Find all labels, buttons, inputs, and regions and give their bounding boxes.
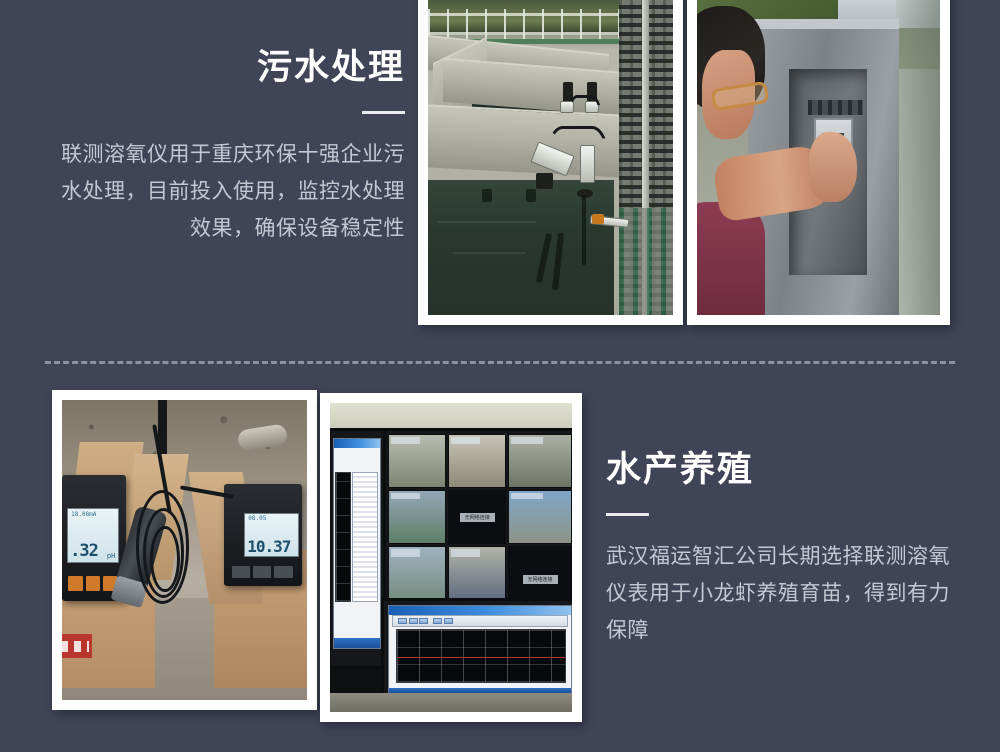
- cable-coil: [150, 526, 179, 592]
- bottom-monitor-trend: [381, 598, 572, 703]
- wall-shadow: [526, 189, 536, 202]
- section-aquaculture-rule: [606, 513, 649, 516]
- field-meters-photo: 18.08mA .32 pH 08.05 10.37: [62, 400, 307, 700]
- camera-feed: [448, 434, 506, 488]
- ph-meter-lcd: 18.08mA .32 pH: [67, 508, 119, 563]
- toolbar-icon[interactable]: [444, 618, 453, 624]
- ph-meter-sub-reading: 18.08mA: [71, 511, 96, 518]
- trend-threshold-line: [397, 657, 565, 658]
- camera-offline-tile: 无网络连接: [448, 490, 506, 544]
- sensor-cable: [565, 95, 604, 133]
- left-taskbar: [334, 638, 380, 648]
- toolbar-icon[interactable]: [409, 618, 418, 624]
- keypad-key: [86, 576, 101, 591]
- camera-timestamp: [391, 437, 420, 443]
- wastewater-treatment-tanks-photo: [428, 0, 673, 315]
- keypad-key: [274, 566, 292, 578]
- monitoring-room-photo: 无网络连接 HIKVISION 无网络连接 HIKVISION: [330, 403, 572, 712]
- desk-surface: [330, 693, 572, 712]
- camera-timestamp: [391, 493, 420, 499]
- camera-feed: [508, 490, 572, 544]
- left-trend-graph: [335, 472, 351, 602]
- water-ripple: [438, 221, 536, 223]
- box-red-label: [62, 634, 92, 658]
- toolbar-icon[interactable]: [398, 618, 407, 624]
- main-pool-water: [428, 180, 614, 315]
- left-monitor: [330, 428, 386, 669]
- trend-taskbar: [389, 688, 572, 692]
- keypad-key: [232, 566, 250, 578]
- technician-installing-controller-photo: [697, 0, 940, 315]
- camera-offline-label: 无网络连接: [460, 513, 495, 522]
- keypad-key: [253, 566, 271, 578]
- trend-chart-grid: [396, 629, 566, 683]
- trend-app-window: [388, 605, 572, 694]
- trend-window-titlebar: [389, 606, 572, 615]
- section-wastewater-body: 联测溶氧仪用于重庆环保十强企业污水处理，目前投入使用，监控水处理效果，确保设备稳…: [45, 136, 405, 247]
- section-wastewater-rule: [362, 111, 405, 114]
- wall-shadow: [482, 189, 492, 202]
- camera-timestamp: [511, 493, 543, 499]
- left-app-window: [333, 438, 381, 650]
- camera-timestamp: [511, 437, 543, 443]
- camera-timestamp: [451, 549, 480, 557]
- photo-frame-wastewater-tanks: [418, 0, 683, 325]
- background-wall-panel: [896, 0, 940, 315]
- do-meter-sub-reading: 08.05: [248, 515, 266, 522]
- sensor-stem: [582, 195, 586, 264]
- section-wastewater-title: 污水处理: [45, 46, 405, 90]
- din-rail: [808, 100, 862, 114]
- dissolved-oxygen-meter-device: 08.05 10.37: [224, 484, 302, 586]
- ph-meter-value: .32: [70, 541, 98, 561]
- photo-frame-field-meters: 18.08mA .32 pH 08.05 10.37: [52, 390, 317, 710]
- camera-timestamp: [451, 437, 480, 443]
- do-meter-keypad: [232, 566, 293, 578]
- main-monitor-cctv: 无网络连接 HIKVISION 无网络连接 HIKVISION: [383, 428, 572, 620]
- section-aquaculture-title: 水产养殖: [606, 448, 956, 492]
- section-wastewater-text: 污水处理 联测溶氧仪用于重庆环保十强企业污水处理，目前投入使用，监控水处理效果，…: [45, 46, 405, 247]
- ph-meter-keypad: [68, 576, 118, 591]
- photo-frame-monitoring-room: 无网络连接 HIKVISION 无网络连接 HIKVISION: [320, 393, 582, 722]
- ph-meter-unit: pH: [107, 552, 115, 560]
- toolbar-icon[interactable]: [433, 618, 442, 624]
- left-window-titlebar: [334, 439, 380, 448]
- camera-feed: [388, 490, 446, 544]
- water-ripple: [453, 252, 527, 254]
- technician-hand: [809, 132, 858, 201]
- keypad-key: [68, 576, 83, 591]
- toolbar-icon[interactable]: [419, 618, 428, 624]
- section-aquaculture-text: 水产养殖 武汉福运智汇公司长期选择联测溶氧仪表用于小龙虾养殖育苗，得到有力保障: [606, 448, 956, 649]
- cable-connector: [592, 214, 604, 223]
- camera-offline-label: 无网络连接: [523, 575, 558, 584]
- camera-timestamp: [391, 549, 420, 557]
- camera-feed: [388, 434, 446, 488]
- do-meter-lcd: 08.05 10.37: [244, 513, 299, 558]
- promo-page: 污水处理 联测溶氧仪用于重庆环保十强企业污水处理，目前投入使用，监控水处理效果，…: [0, 0, 1000, 752]
- do-meter-value: 10.37: [247, 537, 290, 556]
- trend-toolbar: [392, 615, 567, 626]
- photo-frame-technician: [687, 0, 950, 325]
- camera-feed: [508, 434, 572, 488]
- section-divider: [45, 361, 955, 364]
- sensor-body: [536, 173, 553, 189]
- section-aquaculture-body: 武汉福运智汇公司长期选择联测溶氧仪表用于小龙虾养殖育苗，得到有力保障: [606, 538, 956, 649]
- left-data-table: [352, 472, 378, 602]
